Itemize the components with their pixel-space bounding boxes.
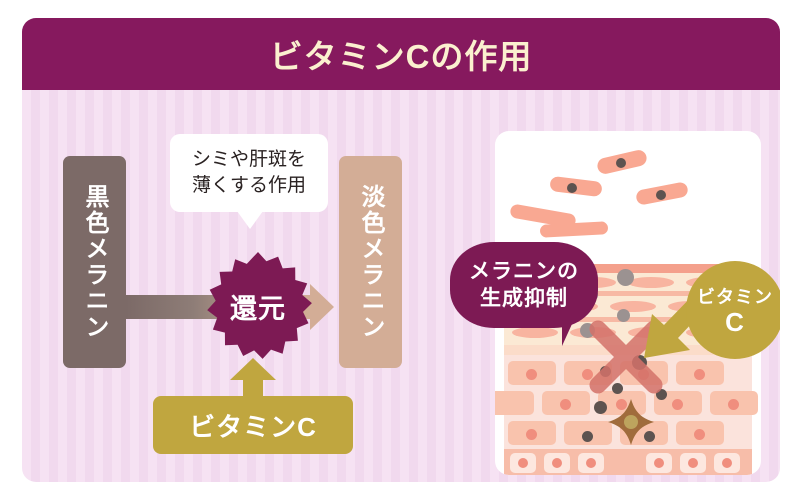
suppression-line2: 生成抑制	[480, 285, 568, 312]
vitamin-c-circle-badge: ビタミン C	[686, 261, 780, 359]
basal-nucleus	[654, 458, 664, 468]
vitamin-c-badge-line2: C	[725, 309, 745, 336]
basal-nucleus	[722, 458, 732, 468]
basal-nucleus	[552, 458, 562, 468]
vitamin-c-badge-line1: ビタミン	[697, 283, 773, 309]
cell-nucleus	[526, 429, 537, 440]
melanin-granule	[582, 431, 593, 442]
vitamin-c-up-arrow	[230, 358, 276, 400]
effect-bubble-tail	[237, 211, 263, 229]
reduction-badge-label: 還元	[202, 250, 314, 362]
basal-nucleus	[518, 458, 528, 468]
corneum-cell	[512, 327, 558, 338]
epidermal-cell	[495, 391, 534, 415]
cell-nucleus	[694, 429, 705, 440]
melanin-dot	[656, 190, 666, 200]
melanin-dot	[567, 183, 577, 193]
suppression-line1: メラニンの	[469, 258, 579, 285]
melanin-granule	[594, 401, 607, 414]
suppression-bubble-tail	[562, 314, 584, 346]
cell-nucleus	[728, 399, 739, 410]
vitamin-c-box: ビタミンC	[153, 396, 353, 454]
cell-nucleus	[694, 369, 705, 380]
melanocyte-cell	[608, 399, 654, 445]
infographic-card: ビタミンCの作用 黒色メラニン 淡色メラニン シミや肝斑を 薄くする作用 還元 …	[22, 18, 780, 482]
page-title: ビタミンCの作用	[270, 30, 533, 78]
reduction-burst-badge: 還元	[202, 250, 314, 362]
effect-bubble-line2: 薄くする作用	[192, 173, 306, 199]
cell-nucleus	[560, 399, 571, 410]
basal-nucleus	[688, 458, 698, 468]
basal-nucleus	[586, 458, 596, 468]
cell-nucleus	[526, 369, 537, 380]
effect-speech-bubble: シミや肝斑を 薄くする作用	[170, 134, 328, 212]
corneum-cell	[628, 277, 674, 288]
dark-melanin-box: 黒色メラニン	[63, 156, 126, 368]
light-melanin-box: 淡色メラニン	[339, 156, 402, 368]
melanin-dot	[616, 158, 626, 168]
cell-nucleus	[672, 399, 683, 410]
effect-bubble-line1: シミや肝斑を	[192, 147, 306, 173]
header-bar: ビタミンCの作用	[22, 18, 780, 90]
melanin-granule	[617, 269, 634, 286]
flaking-cell	[540, 221, 609, 238]
